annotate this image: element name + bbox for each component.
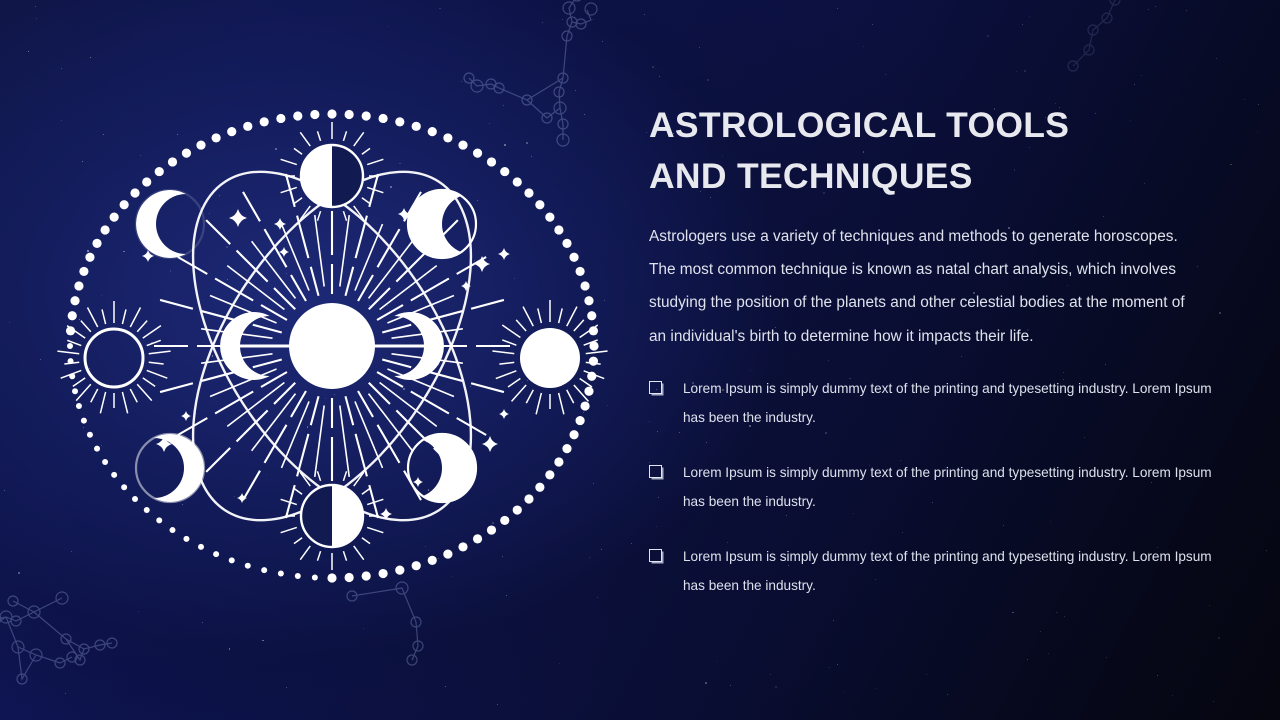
page-title: ASTROLOGICAL TOOLS AND TECHNIQUES <box>649 100 1239 203</box>
crescent-top-left <box>136 190 204 258</box>
inner-crescent-left <box>220 312 290 380</box>
title-line-2: AND TECHNIQUES <box>649 151 1239 202</box>
body-paragraph: Astrologers use a variety of techniques … <box>649 220 1205 353</box>
list-item-text: Lorem Ipsum is simply dummy text of the … <box>683 543 1235 600</box>
gibbous-bottom-right <box>408 434 476 502</box>
moon-bottom-half-lit <box>281 462 384 570</box>
constellation-top-right <box>1055 0 1195 100</box>
list-item-text: Lorem Ipsum is simply dummy text of the … <box>683 459 1235 516</box>
celestial-moon-phase-orrery <box>52 96 612 596</box>
slide-root: ASTROLOGICAL TOOLS AND TECHNIQUES Astrol… <box>0 0 1280 720</box>
constellation-bottom-left <box>0 575 168 720</box>
gibbous-top-right <box>408 190 476 258</box>
moon-top-half-lit <box>281 122 384 230</box>
title-line-1: ASTROLOGICAL TOOLS <box>649 100 1239 151</box>
hollow-square-bullet-icon <box>649 381 662 394</box>
bullet-list: Lorem Ipsum is simply dummy text of the … <box>649 375 1239 600</box>
inner-crescent-right <box>374 312 444 380</box>
list-item: Lorem Ipsum is simply dummy text of the … <box>649 543 1239 600</box>
hollow-square-bullet-icon <box>649 549 662 562</box>
hollow-square-bullet-icon <box>649 465 662 478</box>
central-sun-disc <box>289 303 375 389</box>
content-column: ASTROLOGICAL TOOLS AND TECHNIQUES Astrol… <box>649 100 1239 600</box>
list-item-text: Lorem Ipsum is simply dummy text of the … <box>683 375 1235 432</box>
list-item: Lorem Ipsum is simply dummy text of the … <box>649 459 1239 516</box>
list-item: Lorem Ipsum is simply dummy text of the … <box>649 375 1239 432</box>
